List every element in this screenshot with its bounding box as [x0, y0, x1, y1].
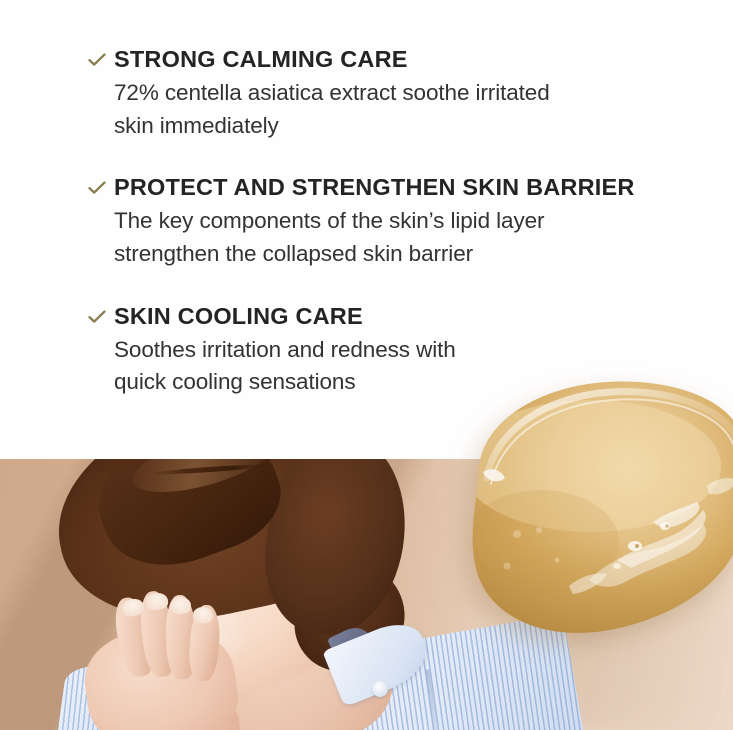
benefit-body-line: The key components of the skin’s lipid l… [114, 205, 733, 238]
benefit-body-line: strengthen the collapsed skin barrier [114, 238, 733, 271]
check-icon [88, 181, 106, 195]
benefit-body-line: skin immediately [114, 110, 733, 143]
check-icon [88, 310, 106, 324]
product-texture-swatch [421, 374, 733, 642]
benefit-body-line: 72% centella asiatica extract soothe irr… [114, 77, 733, 110]
fingernail [192, 606, 213, 623]
benefit-heading: STRONG CALMING CARE [114, 44, 733, 74]
benefit-item: STRONG CALMING CARE 72% centella asiatic… [88, 44, 733, 142]
fingernail [170, 597, 192, 615]
benefit-body: The key components of the skin’s lipid l… [114, 205, 733, 270]
collar-button [372, 681, 388, 697]
benefit-body: 72% centella asiatica extract soothe irr… [114, 77, 733, 142]
benefit-item: PROTECT AND STRENGTHEN SKIN BARRIER The … [88, 172, 733, 270]
benefit-body-line: Soothes irritation and redness with [114, 334, 733, 367]
benefit-heading: PROTECT AND STRENGTHEN SKIN BARRIER [114, 172, 733, 202]
check-icon [88, 53, 106, 67]
benefit-heading: SKIN COOLING CARE [114, 301, 733, 331]
product-benefits-page: STRONG CALMING CARE 72% centella asiatic… [0, 0, 733, 730]
